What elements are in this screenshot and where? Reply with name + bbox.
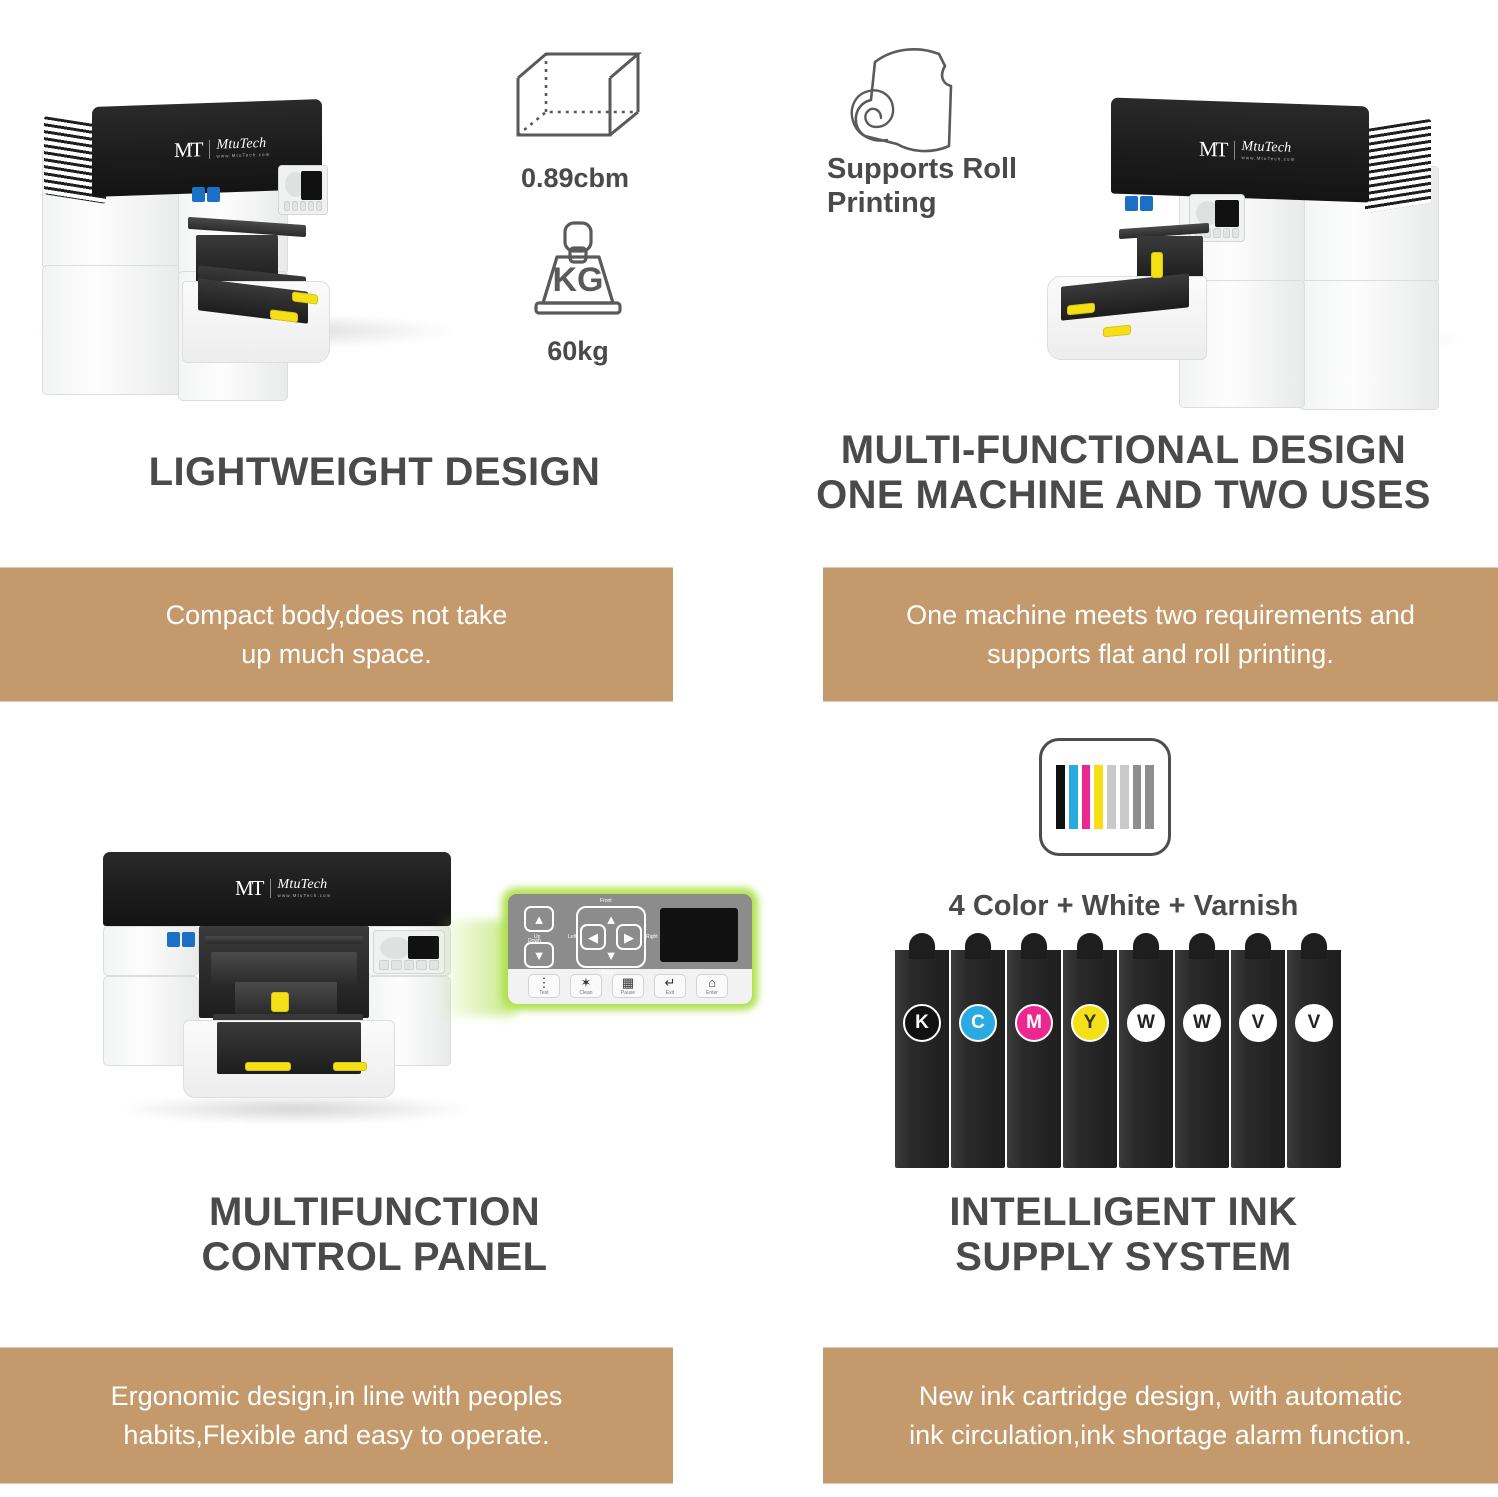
clean-button[interactable]: ✶ Clean — [570, 974, 602, 998]
enter-button-label: Enter — [706, 991, 718, 996]
brand-wordmark: MtuTech — [217, 137, 271, 153]
ink-cartridge-c: C — [951, 950, 1005, 1168]
printer-fn-key[interactable] — [284, 201, 290, 211]
cartridge-cap — [1301, 933, 1327, 959]
printer-fn-key[interactable] — [1223, 228, 1230, 238]
swatch-bar-white-2 — [1120, 765, 1129, 829]
printer-carriage — [211, 952, 357, 984]
swatch-bar-yellow — [1094, 765, 1103, 829]
cartridge-cap — [1245, 933, 1271, 959]
ink-cartridge-m: M — [1007, 950, 1061, 1168]
printer-fn-key[interactable] — [1232, 228, 1239, 238]
swatch-bar-cyan — [1069, 765, 1078, 829]
exit-button-label: Exit — [666, 991, 674, 996]
printer-illustration-roll: MT MtuTech www.MtuTech.com — [989, 80, 1489, 360]
control-panel-lcd — [660, 908, 738, 962]
printer-lcd — [408, 936, 439, 959]
panel-title-multifunctional: MULTI-FUNCTIONAL DESIGN ONE MACHINE AND … — [749, 428, 1498, 518]
printer-lcd — [1215, 200, 1239, 227]
printer-vent-grille — [1365, 119, 1431, 213]
printer-control-screen[interactable] — [278, 165, 328, 215]
infographic-grid: MT MtuTech www.MtuTech.com — [0, 0, 1498, 1497]
control-panel-callout[interactable]: ▲ Up ▼ Down Front Back ▲ ▼ ◀ ▶ Left Righ… — [508, 894, 752, 1004]
swatch-bar-black — [1056, 765, 1065, 829]
caption-banner-lightweight: Compact body,does not take up much space… — [0, 568, 673, 701]
left-key-label: Left — [568, 934, 576, 940]
printer-button-row[interactable] — [379, 960, 439, 970]
ink-cartridge-v1: V — [1231, 950, 1285, 1168]
printer-control-screen[interactable] — [373, 930, 445, 974]
clean-button-label: Clean — [579, 991, 592, 996]
caption-text-ink: New ink cartridge design, with automatic… — [883, 1377, 1438, 1454]
brand-monogram: MT — [235, 878, 263, 899]
caption-text-lightweight: Compact body,does not take up much space… — [140, 596, 534, 673]
printer-hood: MT MtuTech www.MtuTech.com — [1111, 97, 1369, 202]
brand-logo: MT MtuTech www.MtuTech.com — [1199, 139, 1296, 163]
cartridge-cap — [909, 933, 935, 959]
printer-hood: MT MtuTech www.MtuTech.com — [103, 852, 451, 926]
right-key-label: Right — [646, 934, 658, 940]
ink-configuration-label: 4 Color + White + Varnish — [749, 890, 1498, 923]
panel-lightweight: MT MtuTech www.MtuTech.com — [0, 0, 749, 748]
printer-fn-key[interactable] — [316, 201, 322, 211]
cartridge-badge-k: K — [903, 1004, 941, 1042]
brand-logo: MT MtuTech www.MtuTech.com — [235, 878, 332, 899]
printer-fn-key[interactable] — [308, 201, 314, 211]
caption-text-control: Ergonomic design,in line with peoples ha… — [85, 1377, 589, 1454]
safety-badge-icons — [192, 187, 220, 202]
cartridge-cap — [965, 933, 991, 959]
test-icon: ⋮ — [538, 976, 551, 989]
panel-control-panel: MT MtuTech www.MtuTech.com — [0, 748, 749, 1497]
printer-warning-label — [271, 992, 289, 1012]
cartridge-badge-c: C — [959, 1004, 997, 1042]
exit-button[interactable]: ↵ Exit — [654, 974, 686, 998]
left-key[interactable]: ◀ — [580, 924, 606, 950]
spec-weight: KG 60kg — [493, 215, 663, 367]
printer-button-row[interactable] — [284, 201, 322, 211]
printer-lcd — [301, 171, 322, 200]
cartridge-cap — [1077, 933, 1103, 959]
caption-text-multifunctional: One machine meets two requirements and s… — [880, 596, 1441, 673]
printer-body-lower-left — [42, 265, 182, 395]
panel-multifunctional: Supports Roll Printing MT MtuTech www.Mt… — [749, 0, 1498, 748]
cartridge-badge-y: Y — [1071, 1004, 1109, 1042]
ink-cartridge-w2: W — [1175, 950, 1229, 1168]
printer-clamp-left — [245, 1062, 291, 1071]
up-arrow-key[interactable]: ▲ — [524, 906, 554, 932]
cartridge-cap — [1189, 933, 1215, 959]
panel-title-control: MULTIFUNCTION CONTROL PANEL — [0, 1190, 749, 1280]
test-button-label: Test — [539, 991, 548, 996]
cartridge-badge-w2: W — [1183, 1004, 1221, 1042]
pause-icon: ▦ — [622, 976, 634, 989]
logo-divider — [209, 140, 210, 159]
brand-wordmark: MtuTech — [278, 878, 332, 892]
swatch-bar-white-1 — [1107, 765, 1116, 829]
brand-url: www.MtuTech.com — [278, 894, 332, 899]
enter-icon: ⌂ — [708, 976, 716, 989]
ink-cartridge-y: Y — [1063, 950, 1117, 1168]
weight-icon-glyph: KG — [553, 261, 604, 299]
brand-monogram: MT — [1199, 139, 1227, 161]
printer-fn-key[interactable] — [379, 960, 389, 970]
brand-logo: MT MtuTech www.MtuTech.com — [174, 137, 271, 161]
panel-title-ink: INTELLIGENT INK SUPPLY SYSTEM — [749, 1190, 1498, 1280]
caption-banner-multifunctional: One machine meets two requirements and s… — [823, 568, 1498, 701]
weight-icon: KG — [503, 215, 653, 325]
printer-rail — [205, 936, 363, 944]
panel-ink-supply: 4 Color + White + Varnish K C M Y W — [749, 748, 1498, 1497]
printer-illustration-lightweight: MT MtuTech www.MtuTech.com — [20, 85, 480, 350]
printer-clamp-right — [333, 1062, 367, 1071]
safety-badge-icons — [167, 932, 195, 947]
cartridge-cap — [1021, 933, 1047, 959]
cartridge-cap — [1133, 933, 1159, 959]
printer-dpad-icon — [380, 937, 411, 959]
pause-button[interactable]: ▦ Pause — [612, 974, 644, 998]
printer-fn-key[interactable] — [404, 960, 414, 970]
ink-swatch-icon — [1039, 738, 1171, 856]
cartridge-badge-m: M — [1015, 1004, 1053, 1042]
spec-volume: 0.89cbm — [490, 42, 660, 194]
swatch-bar-varnish-1 — [1133, 765, 1142, 829]
cartridge-badge-v1: V — [1239, 1004, 1277, 1042]
logo-divider — [1234, 141, 1235, 160]
caption-banner-control: Ergonomic design,in line with peoples ha… — [0, 1348, 673, 1483]
printer-control-screen[interactable] — [1189, 194, 1245, 242]
swatch-bar-magenta — [1082, 765, 1091, 829]
cartridge-badge-w1: W — [1127, 1004, 1165, 1042]
down-arrow-key[interactable]: ▼ — [524, 942, 554, 968]
brand-wordmark: MtuTech — [1242, 140, 1296, 156]
safety-badge-icons — [1125, 196, 1153, 211]
printer-fn-key[interactable] — [416, 960, 426, 970]
printer-shadow — [115, 1094, 475, 1124]
down-arrow-key-label: Down — [528, 938, 541, 944]
badge-icon-2 — [182, 932, 195, 947]
badge-icon-2 — [207, 187, 220, 202]
clean-icon: ✶ — [581, 976, 592, 989]
badge-icon-2 — [1140, 196, 1153, 211]
exit-icon: ↵ — [665, 976, 676, 989]
printer-illustration-control: MT MtuTech www.MtuTech.com — [95, 844, 495, 1124]
swatch-bar-varnish-2 — [1145, 765, 1154, 829]
pause-button-label: Pause — [621, 991, 635, 996]
enter-button[interactable]: ⌂ Enter — [696, 974, 728, 998]
printer-fn-key[interactable] — [391, 960, 401, 970]
brand-url: www.MtuTech.com — [217, 153, 271, 159]
printer-fn-key[interactable] — [1213, 228, 1220, 238]
back-key-label: Back — [602, 970, 613, 976]
printer-fn-key[interactable] — [300, 201, 306, 211]
printer-roll-guide — [1151, 252, 1163, 278]
printer-print-head-block — [1137, 236, 1203, 280]
brand-url: www.MtuTech.com — [1242, 156, 1296, 162]
logo-divider — [270, 879, 271, 898]
ink-cartridge-k: K — [895, 950, 949, 1168]
right-key[interactable]: ▶ — [616, 924, 642, 950]
ink-cartridge-w1: W — [1119, 950, 1173, 1168]
spec-volume-label: 0.89cbm — [490, 163, 660, 194]
badge-icon-1 — [167, 932, 180, 947]
brand-monogram: MT — [174, 139, 202, 161]
ink-cartridge-row: K C M Y W W — [895, 950, 1343, 1168]
cartridge-badge-v2: V — [1295, 1004, 1333, 1042]
ink-cartridge-v2: V — [1287, 950, 1341, 1168]
spec-weight-label: 60kg — [493, 336, 663, 367]
box-icon — [500, 42, 650, 152]
test-button[interactable]: ⋮ Test — [528, 974, 560, 998]
badge-icon-1 — [1125, 196, 1138, 211]
printer-fn-key[interactable] — [292, 201, 298, 211]
panel-title-lightweight: LIGHTWEIGHT DESIGN — [0, 450, 749, 495]
caption-banner-ink: New ink cartridge design, with automatic… — [823, 1348, 1498, 1483]
printer-body-lower-right — [1299, 280, 1439, 410]
badge-icon-1 — [192, 187, 205, 202]
front-key-label: Front — [600, 898, 612, 904]
